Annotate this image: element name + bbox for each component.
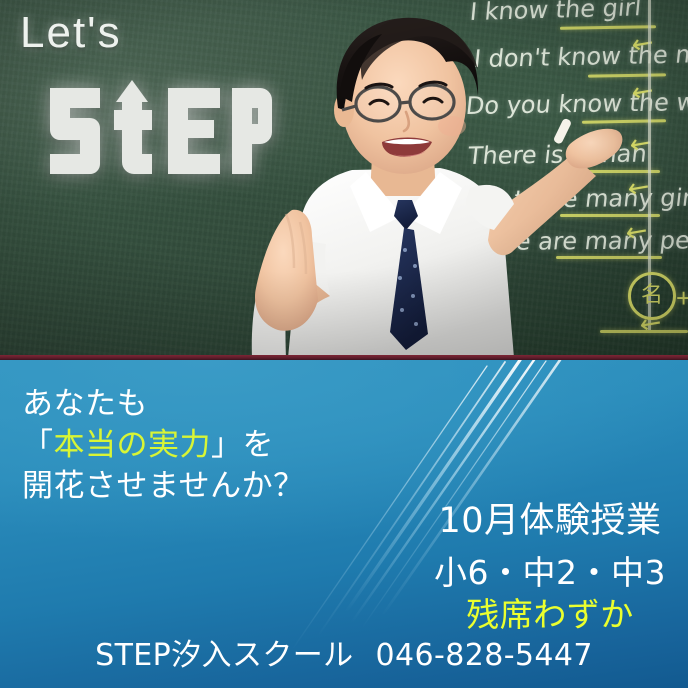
promo-block: 10月体験授業 小6・中2・中3 残席わずか	[434, 500, 666, 636]
promo-grades: 小6・中2・中3	[434, 552, 666, 595]
advertisement-banner: I know the girl I don't know the man ↙ D…	[0, 0, 688, 688]
headline-highlight: 本当の実力	[54, 427, 212, 463]
footer-phone-number[interactable]: 046-828-5447	[376, 638, 593, 673]
step-logo	[44, 74, 272, 186]
section-divider	[0, 355, 688, 360]
promo-banner: あなたも 「本当の実力」を 開花させませんか？ 10月体験授業 小6・中2・中3…	[0, 360, 688, 688]
promo-course-title: 10月体験授業	[434, 500, 666, 543]
headline-line-3: 開花させませんか？	[22, 466, 305, 507]
headline-line-1: あなたも	[22, 384, 305, 425]
footer-school-name: STEP汐入スクール	[95, 630, 353, 674]
headline-line-2: 「本当の実力」を	[22, 425, 305, 466]
headline-block: あなたも 「本当の実力」を 開花させませんか？	[22, 384, 305, 508]
quote-open: 「	[22, 427, 54, 463]
quote-close: 」を	[211, 427, 274, 463]
lets-text: Let's	[20, 8, 122, 58]
footer-contact: STEP汐入スクール046-828-5447	[0, 630, 688, 674]
chalkboard-photo: I know the girl I don't know the man ↙ D…	[0, 0, 688, 358]
